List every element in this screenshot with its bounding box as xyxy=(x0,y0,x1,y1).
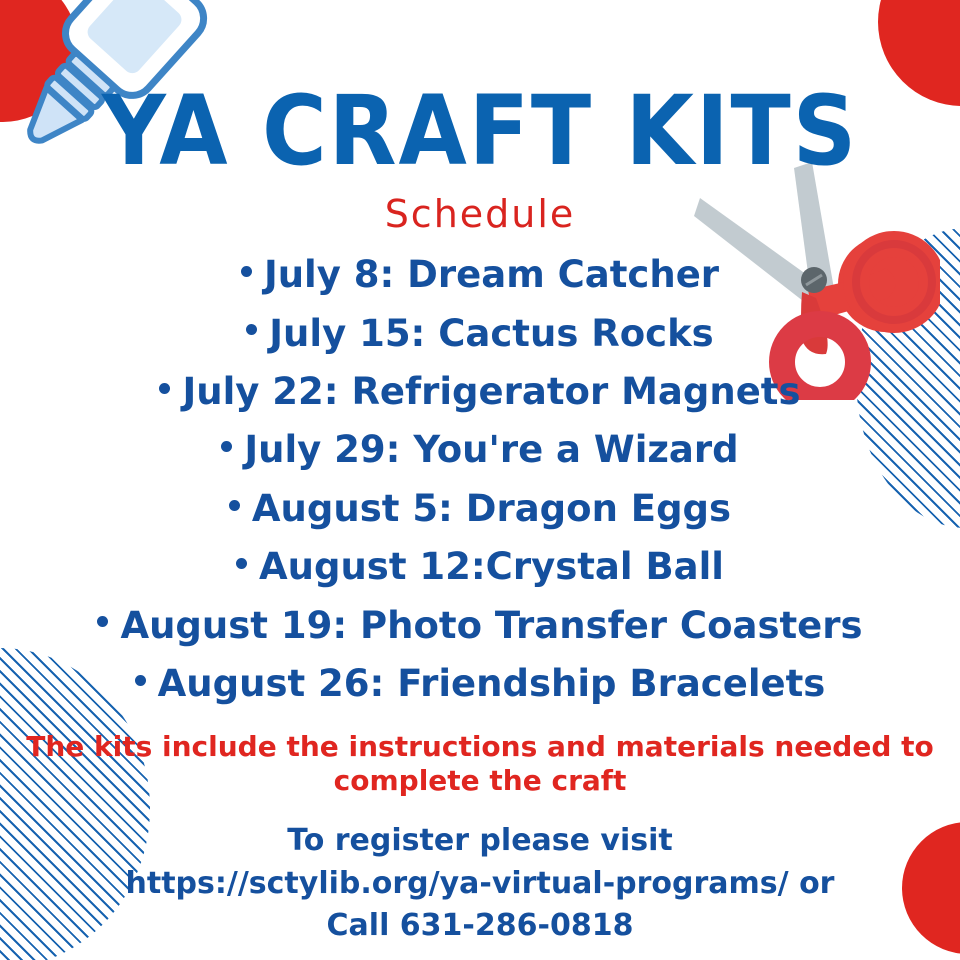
list-item: July 29: You're a Wizard xyxy=(0,421,960,479)
list-item: July 22: Refrigerator Magnets xyxy=(0,363,960,421)
poster-canvas: YA CRAFT KITS Schedule July 8: Dream Cat… xyxy=(0,0,960,960)
kits-note: The kits include the instructions and ma… xyxy=(0,730,960,798)
list-item: August 5: Dragon Eggs xyxy=(0,480,960,538)
bullet-icon xyxy=(241,266,252,277)
list-item: July 8: Dream Catcher xyxy=(0,246,960,304)
bullet-icon xyxy=(135,675,146,686)
schedule-item-label: July 15: Cactus Rocks xyxy=(269,312,713,355)
schedule-item-label: August 5: Dragon Eggs xyxy=(252,487,731,530)
schedule-item-label: July 29: You're a Wizard xyxy=(244,428,738,471)
list-item: August 26: Friendship Bracelets xyxy=(0,655,960,713)
poster-content: YA CRAFT KITS Schedule July 8: Dream Cat… xyxy=(0,0,960,960)
schedule-item-label: August 26: Friendship Bracelets xyxy=(158,662,826,705)
list-item: August 19: Photo Transfer Coasters xyxy=(0,597,960,655)
schedule-item-label: July 8: Dream Catcher xyxy=(264,253,719,296)
bullet-icon xyxy=(221,441,232,452)
register-url[interactable]: https://sctylib.org/ya-virtual-programs/… xyxy=(126,863,835,906)
page-title: YA CRAFT KITS xyxy=(102,84,858,178)
schedule-heading: Schedule xyxy=(385,192,576,236)
schedule-item-label: August 12:Crystal Ball xyxy=(259,545,724,588)
schedule-item-label: August 19: Photo Transfer Coasters xyxy=(120,604,862,647)
bullet-icon xyxy=(159,383,170,394)
register-instruction: To register please visit xyxy=(126,820,835,863)
bullet-icon xyxy=(246,324,257,335)
schedule-item-label: July 22: Refrigerator Magnets xyxy=(182,370,800,413)
register-phone[interactable]: Call 631-286-0818 xyxy=(126,905,835,948)
schedule-list: July 8: Dream Catcher July 15: Cactus Ro… xyxy=(0,246,960,714)
bullet-icon xyxy=(236,558,247,569)
kits-note-line-1: The kits include the instructions and ma… xyxy=(26,730,764,763)
bullet-icon xyxy=(97,616,108,627)
list-item: July 15: Cactus Rocks xyxy=(0,305,960,363)
list-item: August 12:Crystal Ball xyxy=(0,538,960,596)
registration-info: To register please visit https://sctylib… xyxy=(126,820,835,948)
bullet-icon xyxy=(229,500,240,511)
